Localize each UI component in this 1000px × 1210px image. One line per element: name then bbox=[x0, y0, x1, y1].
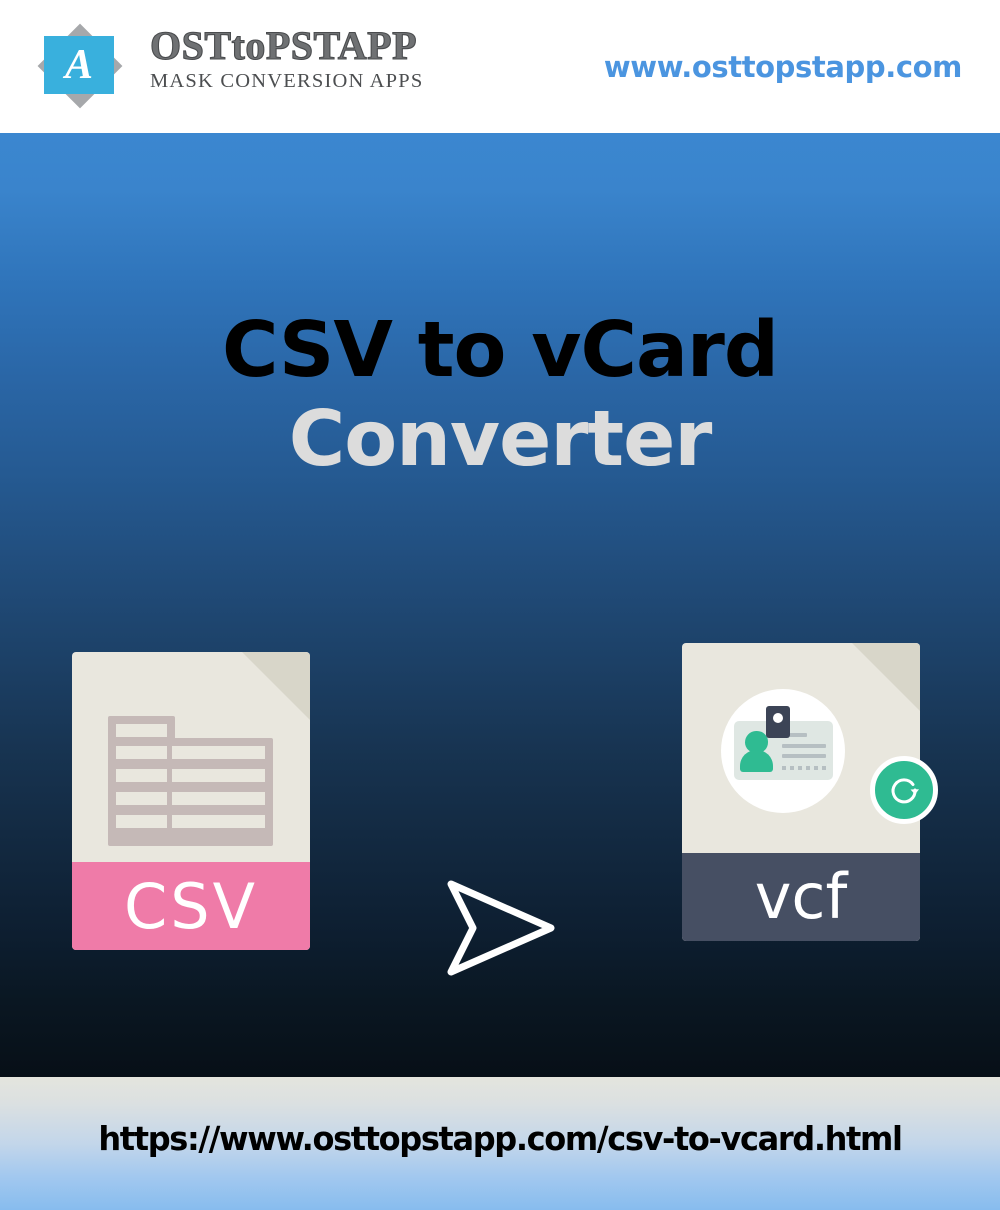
card-dot bbox=[822, 766, 826, 770]
hero-stage: CSV to vCard Converter bbox=[0, 133, 1000, 1077]
card-text-line bbox=[782, 754, 826, 758]
headline-primary: CSV to vCard bbox=[0, 308, 1000, 394]
card-text-line bbox=[782, 744, 826, 748]
grid-cell bbox=[172, 792, 265, 805]
poster-canvas: A OSTtoPSTAPP MASK CONVERSION APPS www.o… bbox=[0, 0, 1000, 1210]
vcf-label-band: vcf bbox=[682, 853, 920, 941]
spreadsheet-grid-icon bbox=[108, 716, 273, 846]
grid-cell bbox=[172, 769, 265, 782]
grid-cell bbox=[116, 724, 167, 737]
sync-refresh-svg bbox=[887, 773, 921, 807]
card-dot bbox=[814, 766, 818, 770]
csv-label-text: CSV bbox=[72, 862, 310, 950]
grid-cell bbox=[172, 746, 265, 759]
osttopstapp-logo-icon: A bbox=[24, 18, 136, 114]
send-arrow-svg bbox=[443, 878, 559, 978]
brand-tagline: MASK CONVERSION APPS bbox=[150, 70, 490, 93]
hero-headline: CSV to vCard Converter bbox=[0, 308, 1000, 486]
person-body-icon bbox=[740, 750, 773, 772]
grid-cell bbox=[172, 815, 265, 828]
badge-clip-hole bbox=[773, 713, 783, 723]
logo-monogram: A bbox=[44, 36, 114, 94]
footer-url-link[interactable]: https://www.osttopstapp.com/csv-to-vcard… bbox=[15, 1119, 985, 1158]
headline-secondary: Converter bbox=[0, 394, 1000, 486]
grid-cell bbox=[116, 792, 167, 805]
grid-cell bbox=[116, 769, 167, 782]
brand-text-block: OSTtoPSTAPP MASK CONVERSION APPS bbox=[150, 24, 490, 93]
vcf-label-text: vcf bbox=[682, 853, 920, 941]
csv-file-icon: CSV bbox=[72, 652, 310, 950]
send-arrow-icon bbox=[443, 878, 559, 978]
csv-label-band: CSV bbox=[72, 862, 310, 950]
card-dot bbox=[782, 766, 786, 770]
card-dot bbox=[798, 766, 802, 770]
sync-refresh-icon bbox=[870, 756, 938, 824]
contact-card-circle bbox=[721, 689, 845, 813]
vcf-file-icon: vcf bbox=[682, 643, 920, 941]
page-footer: https://www.osttopstapp.com/csv-to-vcard… bbox=[0, 1077, 1000, 1210]
brand-lockup[interactable]: A OSTtoPSTAPP MASK CONVERSION APPS bbox=[24, 16, 494, 116]
badge-clip-icon bbox=[766, 706, 790, 738]
card-dot bbox=[806, 766, 810, 770]
grid-cell bbox=[116, 815, 167, 828]
conversion-illustration: CSV bbox=[0, 633, 1000, 973]
header-site-url[interactable]: www.osttopstapp.com bbox=[604, 50, 962, 84]
brand-title: OSTtoPSTAPP bbox=[150, 24, 490, 68]
grid-cell bbox=[116, 746, 167, 759]
card-dot bbox=[790, 766, 794, 770]
page-header: A OSTtoPSTAPP MASK CONVERSION APPS www.o… bbox=[0, 0, 1000, 133]
